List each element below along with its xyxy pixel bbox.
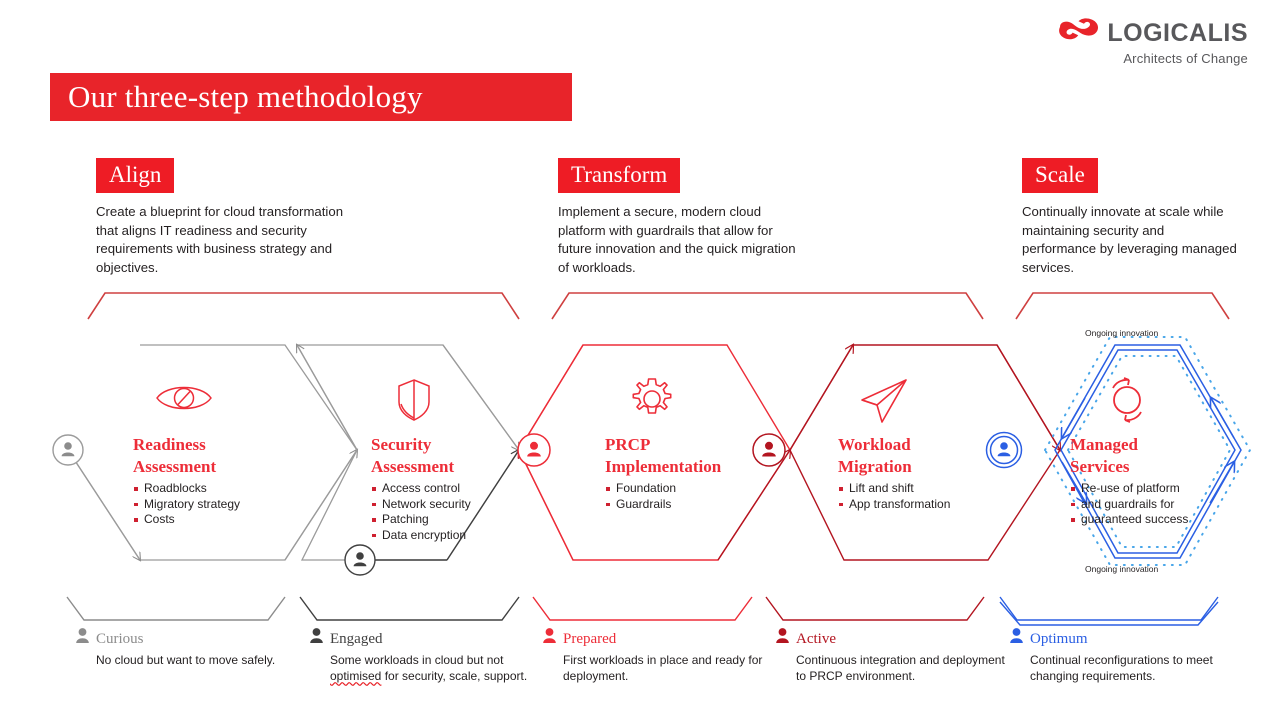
logo-tagline: Architects of Change xyxy=(1058,51,1248,66)
persona-engaged-line1: Some workloads in cloud but not xyxy=(330,653,503,667)
persona-bracket-prepared xyxy=(533,597,752,620)
node-readiness-bullets: Roadblocks Migratory strategy Costs xyxy=(133,481,253,528)
persona-curious: Curious No cloud but want to move safely… xyxy=(76,628,306,669)
phase-scale-description: Continually innovate at scale while main… xyxy=(1022,203,1238,277)
list-item: Roadblocks xyxy=(133,481,253,497)
misspelled-word: optimised xyxy=(330,669,381,683)
persona-optimum: Optimum Continual reconfigurations to me… xyxy=(1010,628,1240,684)
node-security-title-line1: Security xyxy=(371,434,496,456)
phase-transform: Transform Implement a secure, modern clo… xyxy=(558,158,806,277)
list-item: Guardrails xyxy=(605,497,735,513)
phase-align-chip: Align xyxy=(96,158,174,193)
node-readiness-assessment: Readiness Assessment Roadblocks Migrator… xyxy=(133,434,253,528)
node-security-bullets: Access control Network security Patching… xyxy=(371,481,496,543)
page-title: Our three-step methodology xyxy=(50,79,423,115)
phase-bracket-align xyxy=(88,293,519,319)
refresh-cycle-icon xyxy=(1113,378,1141,422)
phase-align: Align Create a blueprint for cloud trans… xyxy=(96,158,346,277)
list-item-continuation: and guardrails for xyxy=(1070,497,1205,513)
badge-prepared xyxy=(518,434,550,466)
list-item-continuation: guaranteed success xyxy=(1070,512,1205,528)
ongoing-innovation-top-label: Ongoing innovation xyxy=(1085,328,1158,338)
list-item: Foundation xyxy=(605,481,735,497)
node-managed-title-line2: Services xyxy=(1070,456,1205,478)
node-readiness-title-line1: Readiness xyxy=(133,434,253,456)
persona-active-name: Active xyxy=(796,631,836,647)
list-item: Patching xyxy=(371,512,496,528)
persona-prepared: Prepared First workloads in place and re… xyxy=(543,628,773,684)
persona-active-description: Continuous integration and deployment to… xyxy=(796,653,1006,684)
persona-curious-description: No cloud but want to move safely. xyxy=(96,653,306,669)
node-managed-title-line1: Managed xyxy=(1070,434,1205,456)
phase-scale-label: Scale xyxy=(1035,162,1085,187)
logicalis-wave-icon xyxy=(1058,18,1100,49)
phase-bracket-scale xyxy=(1016,293,1229,319)
list-item: Network security xyxy=(371,497,496,513)
persona-bracket-engaged xyxy=(300,597,519,620)
person-icon xyxy=(543,628,556,649)
badge-curious xyxy=(53,435,83,465)
persona-bracket-curious xyxy=(67,597,285,620)
shield-icon xyxy=(399,380,429,420)
list-item: Lift and shift xyxy=(838,481,968,497)
persona-curious-name: Curious xyxy=(96,631,144,647)
persona-optimum-name: Optimum xyxy=(1030,631,1088,647)
node-security-assessment: Security Assessment Access control Netwo… xyxy=(371,434,496,543)
persona-bracket-optimum xyxy=(1000,597,1218,625)
logicalis-logo: LOGICALIS Architects of Change xyxy=(1058,18,1248,66)
badge-optimum xyxy=(987,433,1022,468)
badge-active xyxy=(753,434,785,466)
list-item: Data encryption xyxy=(371,528,496,544)
person-icon xyxy=(1010,628,1023,649)
phase-scale-chip: Scale xyxy=(1022,158,1098,193)
node-prcp-implementation: PRCP Implementation Foundation Guardrail… xyxy=(605,434,735,512)
node-workload-migration: Workload Migration Lift and shift App tr… xyxy=(838,434,968,512)
page-title-banner: Our three-step methodology xyxy=(50,73,572,121)
node-managed-bullets: Re-use of platform and guardrails for gu… xyxy=(1070,481,1205,528)
node-prcp-bullets: Foundation Guardrails xyxy=(605,481,735,512)
phase-transform-chip: Transform xyxy=(558,158,680,193)
node-workload-title-line1: Workload xyxy=(838,434,968,456)
person-icon xyxy=(310,628,323,649)
persona-optimum-description: Continual reconfigurations to meet chang… xyxy=(1030,653,1240,684)
phase-bracket-transform xyxy=(552,293,983,319)
list-item: Re-use of platform xyxy=(1070,481,1205,497)
node-managed-services: Managed Services Re-use of platform and … xyxy=(1070,434,1205,528)
node-prcp-title-line2: Implementation xyxy=(605,456,735,478)
persona-prepared-description: First workloads in place and ready for d… xyxy=(563,653,773,684)
list-item: Migratory strategy xyxy=(133,497,253,513)
persona-prepared-name: Prepared xyxy=(563,631,616,647)
list-item: Costs xyxy=(133,512,253,528)
list-item: App transformation xyxy=(838,497,968,513)
badge-engaged xyxy=(345,545,375,575)
phase-scale: Scale Continually innovate at scale whil… xyxy=(1022,158,1238,277)
node-prcp-title-line1: PRCP xyxy=(605,434,735,456)
node-security-title-line2: Assessment xyxy=(371,456,496,478)
persona-bracket-active xyxy=(766,597,984,620)
node-workload-bullets: Lift and shift App transformation xyxy=(838,481,968,512)
phase-align-description: Create a blueprint for cloud transformat… xyxy=(96,203,346,277)
phase-align-label: Align xyxy=(109,162,161,187)
person-icon xyxy=(76,628,89,649)
persona-active: Active Continuous integration and deploy… xyxy=(776,628,1006,684)
persona-engaged-name: Engaged xyxy=(330,631,382,647)
phase-transform-description: Implement a secure, modern cloud platfor… xyxy=(558,203,806,277)
ongoing-innovation-bottom-label: Ongoing innovation xyxy=(1085,564,1158,574)
paper-plane-icon xyxy=(862,380,906,422)
node-readiness-title-line2: Assessment xyxy=(133,456,253,478)
slide-canvas: LOGICALIS Architects of Change Our three… xyxy=(0,0,1280,720)
list-item: Access control xyxy=(371,481,496,497)
persona-engaged: Engaged Some workloads in cloud but noto… xyxy=(310,628,540,684)
persona-engaged-description: Some workloads in cloud but notoptimised… xyxy=(330,653,540,684)
phase-transform-label: Transform xyxy=(571,162,667,187)
eye-slash-icon xyxy=(157,388,211,409)
person-icon xyxy=(776,628,789,649)
logo-wordmark: LOGICALIS xyxy=(1107,19,1248,48)
gear-icon xyxy=(633,379,670,413)
node-workload-title-line2: Migration xyxy=(838,456,968,478)
